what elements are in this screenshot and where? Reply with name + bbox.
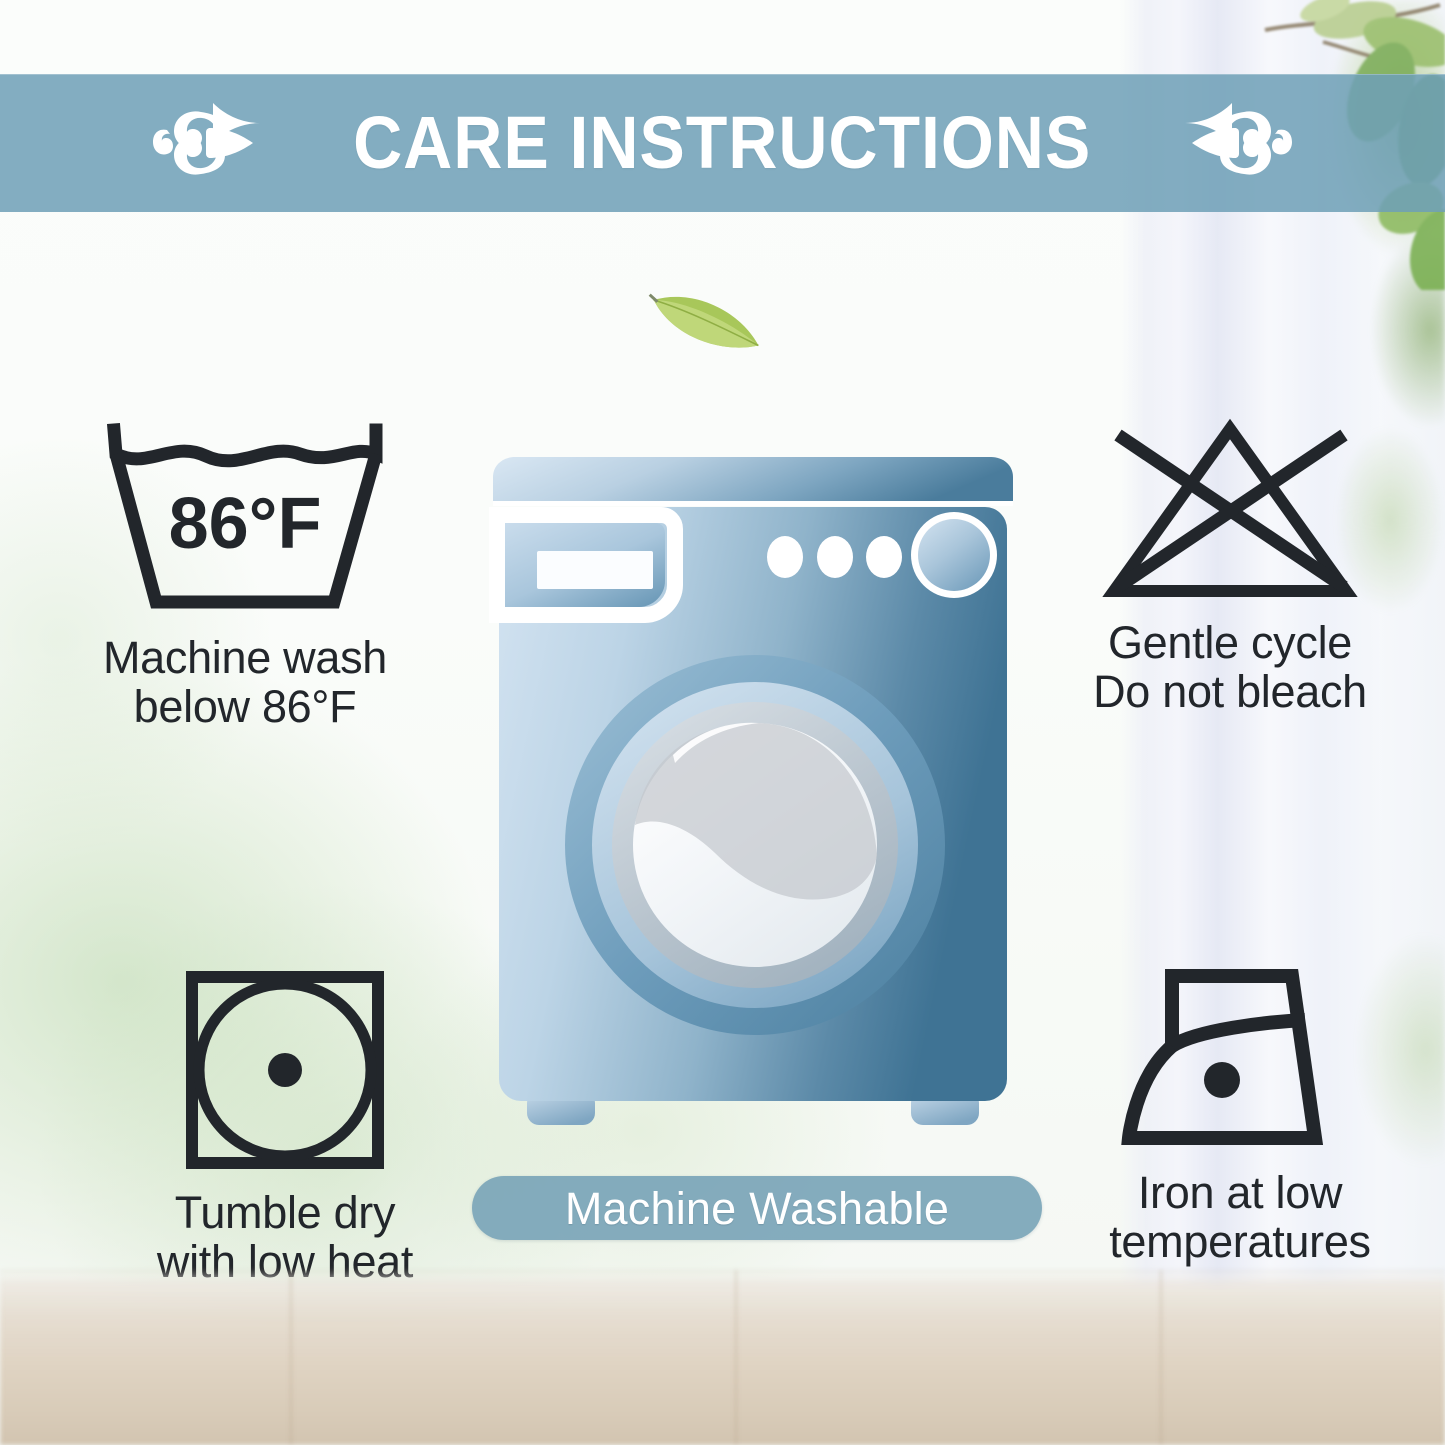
wash-tub-icon: 86°F [100,420,390,620]
machine-lid [493,457,1013,501]
indicator-dots [767,536,902,578]
wash-temperature-value: 86°F [169,484,322,564]
tumble-dry-icon [180,965,390,1175]
fleur-de-lis-icon [153,98,263,188]
care-symbol-machine-wash: 86°F Machine wash below 86°F [30,420,460,731]
care-symbol-iron-low: Iron at low temperatures [1035,960,1445,1266]
care-symbol-caption: Machine wash below 86°F [103,634,387,731]
caption-line-2: Do not bleach [1093,668,1367,717]
badge-label: Machine Washable [565,1186,949,1231]
machine-washable-badge: Machine Washable [472,1176,1042,1240]
wooden-table-surface [0,1270,1445,1445]
header-banner: CARE INSTRUCTIONS [0,74,1445,212]
wood-seam [290,1270,292,1445]
washer-door [565,655,945,1035]
fleur-de-lis-icon [1182,98,1292,188]
wood-seam [1160,1270,1162,1445]
falling-leaf-icon [640,270,770,380]
caption-line-1: Iron at low [1109,1169,1371,1218]
caption-line-1: Machine wash [103,634,387,683]
care-instructions-graphic: CARE INSTRUCTIONS [0,0,1445,1445]
triangle-crossed-icon [1100,415,1360,605]
care-symbol-caption: Gentle cycle Do not bleach [1093,619,1367,716]
page-title: CARE INSTRUCTIONS [353,106,1091,180]
caption-line-2: temperatures [1109,1218,1371,1267]
iron-icon [1115,960,1365,1155]
care-symbol-caption: Iron at low temperatures [1109,1169,1371,1266]
caption-line-1: Tumble dry [157,1189,413,1238]
care-symbol-do-not-bleach: Gentle cycle Do not bleach [1020,415,1440,716]
washing-machine-illustration [483,455,1023,1125]
caption-line-1: Gentle cycle [1093,619,1367,668]
control-knob [911,512,997,598]
care-symbol-tumble-dry: Tumble dry with low heat [80,965,490,1286]
wood-seam [735,1270,737,1445]
caption-line-2: below 86°F [103,683,387,732]
detergent-drawer [497,515,675,615]
